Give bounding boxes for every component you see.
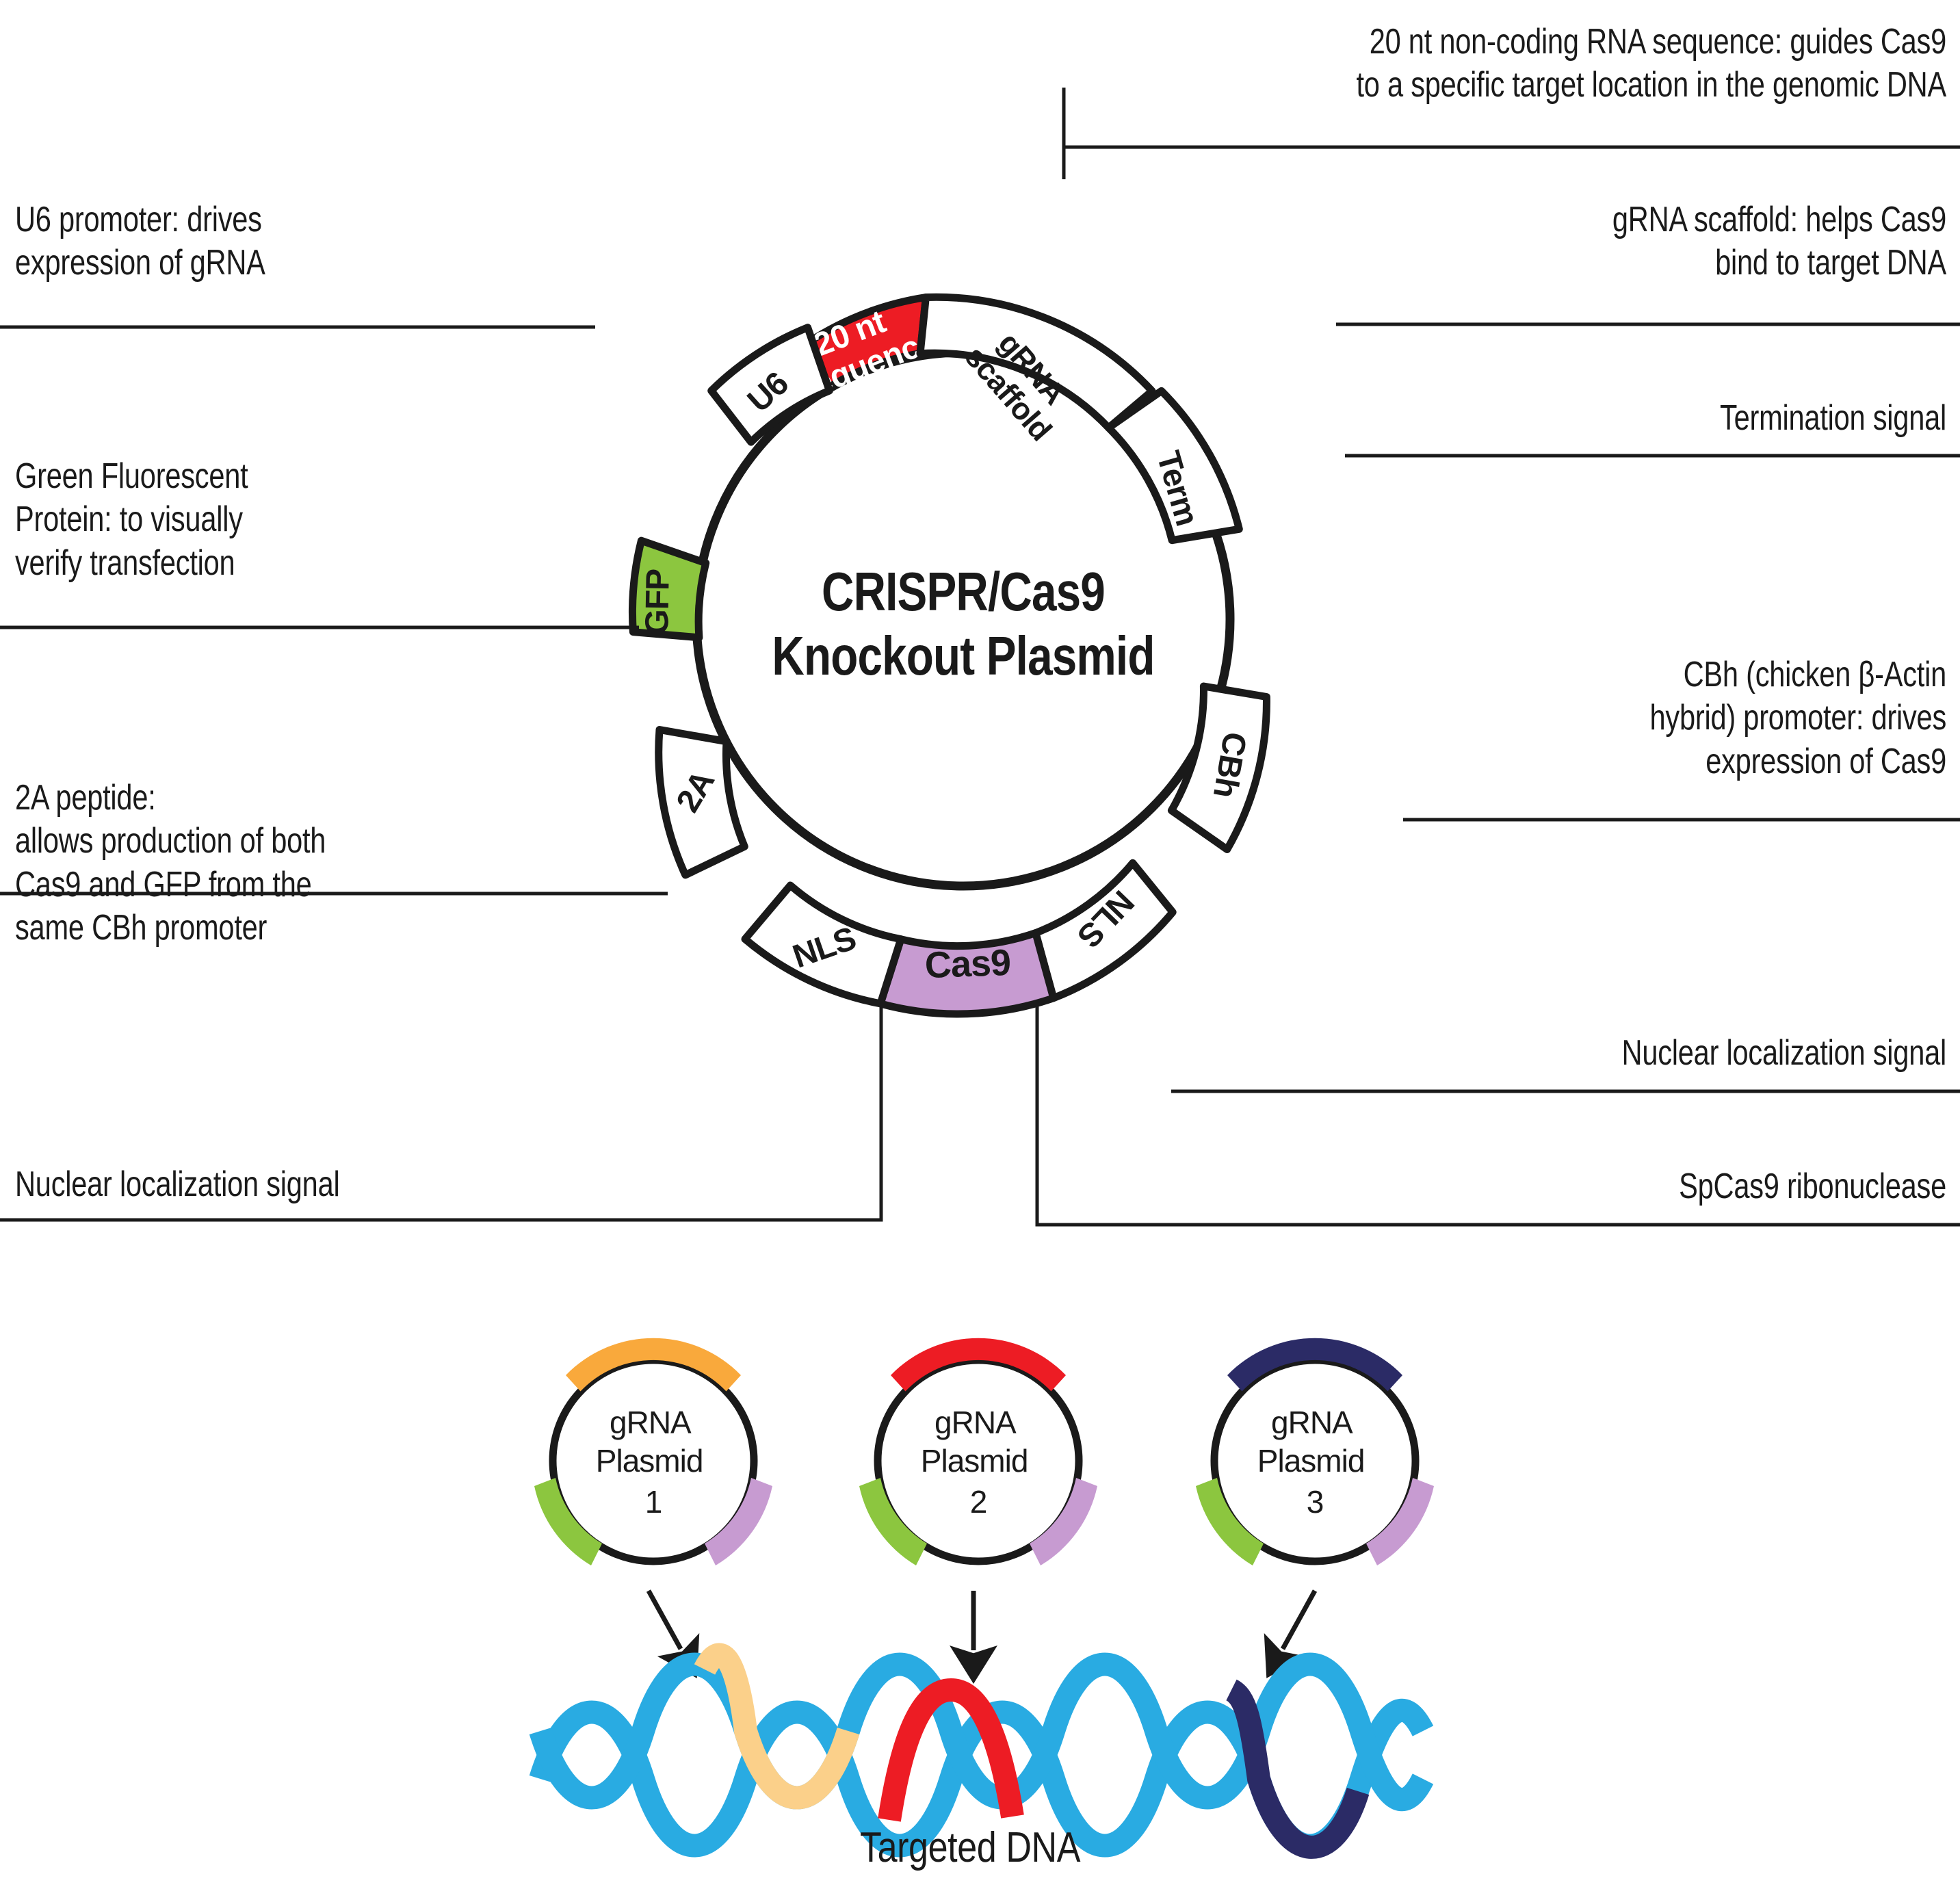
mini-plasmid-1-purple-arc — [705, 1478, 772, 1565]
arrow-plasmid-1 — [649, 1591, 681, 1649]
mini-plasmid-1-green-arc — [534, 1478, 602, 1565]
mini-plasmid-3[interactable]: gRNA Plasmid 3 — [1196, 1338, 1434, 1565]
mini-plasmid-2-green-arc — [859, 1478, 927, 1565]
annotation-u6: U6 promoter: drives expression of gRNA — [15, 198, 672, 285]
feature-cas9[interactable]: Cas9 — [880, 933, 1054, 1014]
annotation-nls-left: Nuclear localization signal — [15, 1163, 672, 1206]
plasmid-title: CRISPR/Cas9 Knockout Plasmid — [772, 560, 1154, 689]
targeted-dna-caption: Targeted DNA — [860, 1823, 1080, 1872]
annotation-grna-scaffold: gRNA scaffold: helps Cas9 bind to target… — [1142, 198, 1946, 285]
annotation-20nt-sequence: 20 nt non-coding RNA sequence: guides Ca… — [1142, 21, 1946, 107]
annotation-2a: 2A peptide: allows production of both Ca… — [15, 777, 672, 950]
targeted-dna-helix — [540, 1654, 1423, 1847]
feature-cas9-label: Cas9 — [924, 942, 1011, 986]
annotation-spcas9: SpCas9 ribonuclease — [1142, 1165, 1946, 1208]
plasmid-title-line2: Knockout Plasmid — [772, 624, 1154, 688]
annotation-termination: Termination signal — [1142, 397, 1946, 440]
mini-plasmid-3-label: gRNA Plasmid 3 — [1257, 1405, 1372, 1520]
arrow-plasmid-3 — [1283, 1591, 1315, 1649]
feature-nls-left[interactable]: NLS — [745, 885, 901, 1004]
figure-canvas: 20 nt sequence gRNA scaffold Term CBh NL… — [0, 0, 1960, 1900]
mini-plasmid-3-green-arc — [1196, 1478, 1264, 1565]
annotation-gfp: Green Fluorescent Protein: to visually v… — [15, 455, 672, 585]
mini-plasmid-2[interactable]: gRNA Plasmid 2 — [859, 1338, 1097, 1565]
plasmid-to-dna-arrows — [649, 1591, 1315, 1650]
annotation-nls-right: Nuclear localization signal — [1142, 1032, 1946, 1075]
feature-u6[interactable]: U6 — [711, 328, 830, 442]
dna-target-segment-3 — [1231, 1690, 1358, 1847]
mini-plasmid-2-label: gRNA Plasmid 2 — [921, 1405, 1036, 1520]
annotation-cbh: CBh (chicken β-Actin hybrid) promoter: d… — [1142, 653, 1946, 783]
mini-plasmid-1-label: gRNA Plasmid 1 — [596, 1405, 711, 1520]
mini-plasmid-3-purple-arc — [1366, 1478, 1434, 1565]
plasmid-title-line1: CRISPR/Cas9 — [772, 560, 1154, 624]
mini-plasmid-1[interactable]: gRNA Plasmid 1 — [534, 1338, 772, 1565]
mini-plasmid-2-purple-arc — [1030, 1478, 1097, 1565]
feature-nls-right[interactable]: NLS — [1036, 863, 1173, 998]
